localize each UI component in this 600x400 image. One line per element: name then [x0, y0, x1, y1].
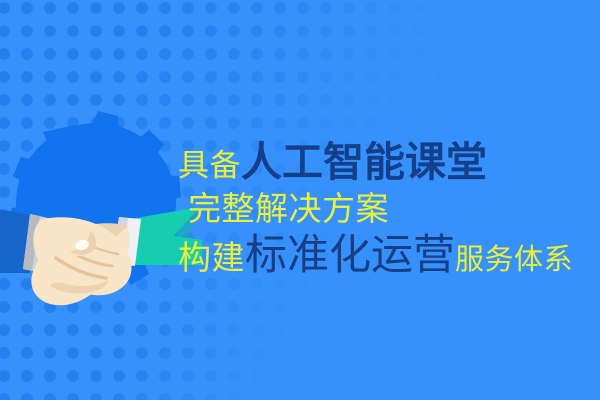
headline-line-1-strong: 人工智能课堂	[241, 142, 487, 183]
headline-line-3: 构建标准化运营服务体系	[178, 234, 596, 276]
headline-line-1-accent: 具备	[178, 150, 241, 181]
headline-line-3-strong: 标准化运营	[245, 234, 455, 276]
headline-line-3-accent-lead: 构建	[178, 241, 245, 274]
headline: 具备人工智能课堂 完整解决方案 构建标准化运营服务体系	[178, 142, 596, 276]
handshake-gear-illustration	[0, 108, 208, 333]
headline-line-1: 具备人工智能课堂	[178, 142, 596, 183]
headline-line-2-accent: 完整解决方案	[188, 192, 389, 225]
headline-line-2: 完整解决方案	[178, 192, 596, 225]
promo-banner: 具备人工智能课堂 完整解决方案 构建标准化运营服务体系	[0, 0, 600, 400]
headline-line-3-accent-tail: 服务体系	[455, 246, 573, 275]
